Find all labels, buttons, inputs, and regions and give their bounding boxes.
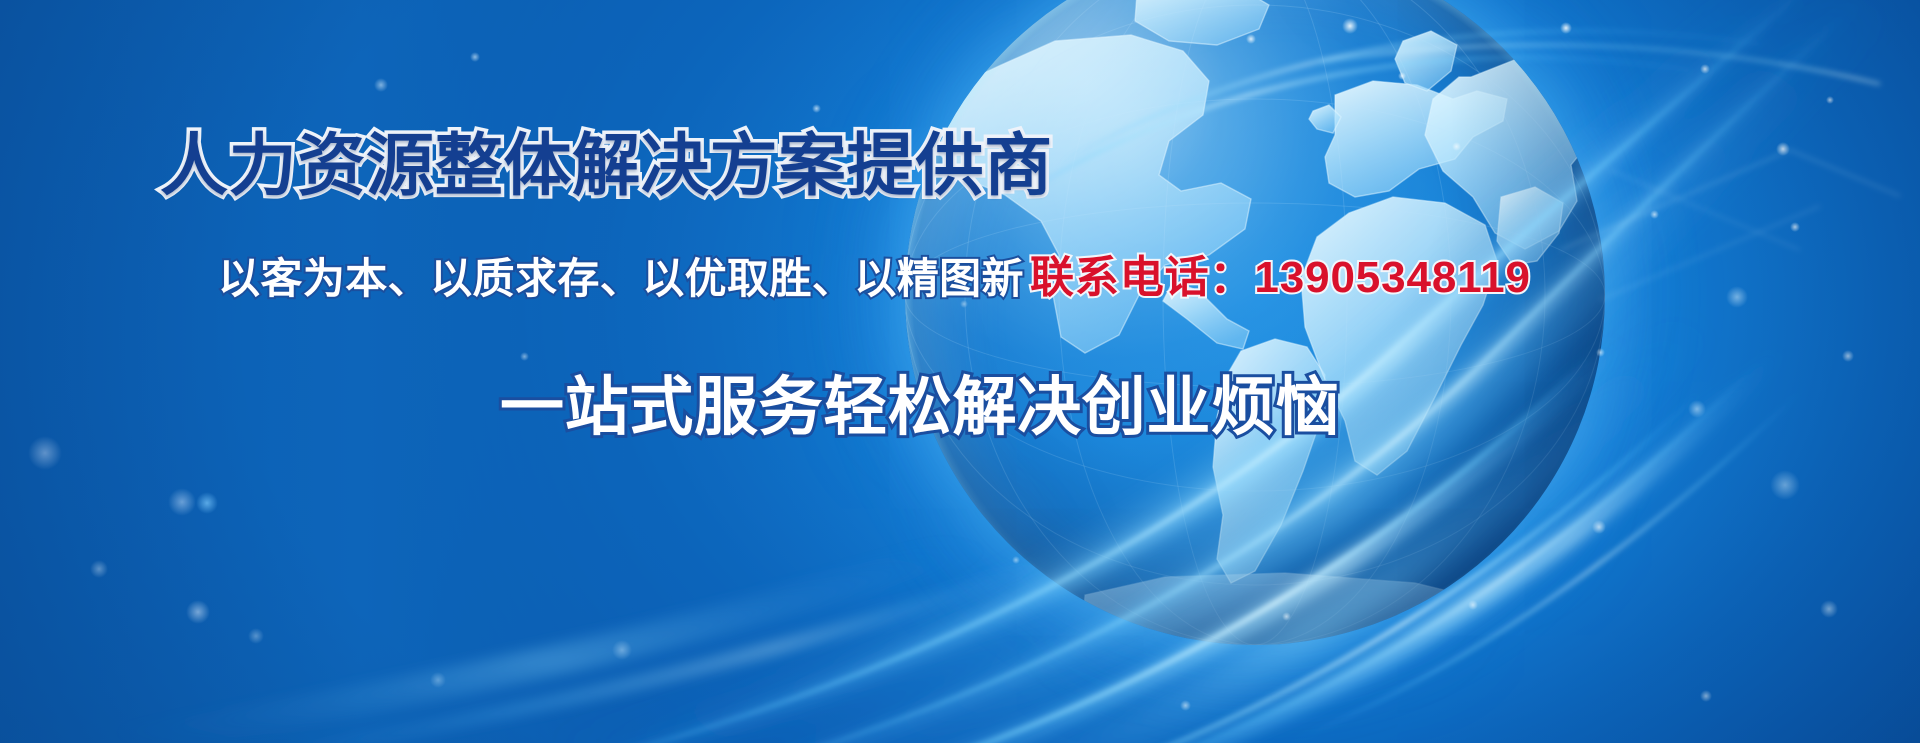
banner-tagline: 一站式服务轻松解决创业烦恼 — [500, 375, 1340, 439]
banner-headline: 人力资源整体解决方案提供商 — [160, 132, 1053, 200]
contact-phone-label[interactable]: 联系电话：13905348119 — [1030, 256, 1531, 300]
promo-banner: 人力资源整体解决方案提供商 以客为本、以质求存、以优取胜、以精图新 联系电话：1… — [0, 0, 1920, 743]
banner-subheadline: 以客为本、以质求存、以优取胜、以精图新 — [218, 258, 1024, 300]
